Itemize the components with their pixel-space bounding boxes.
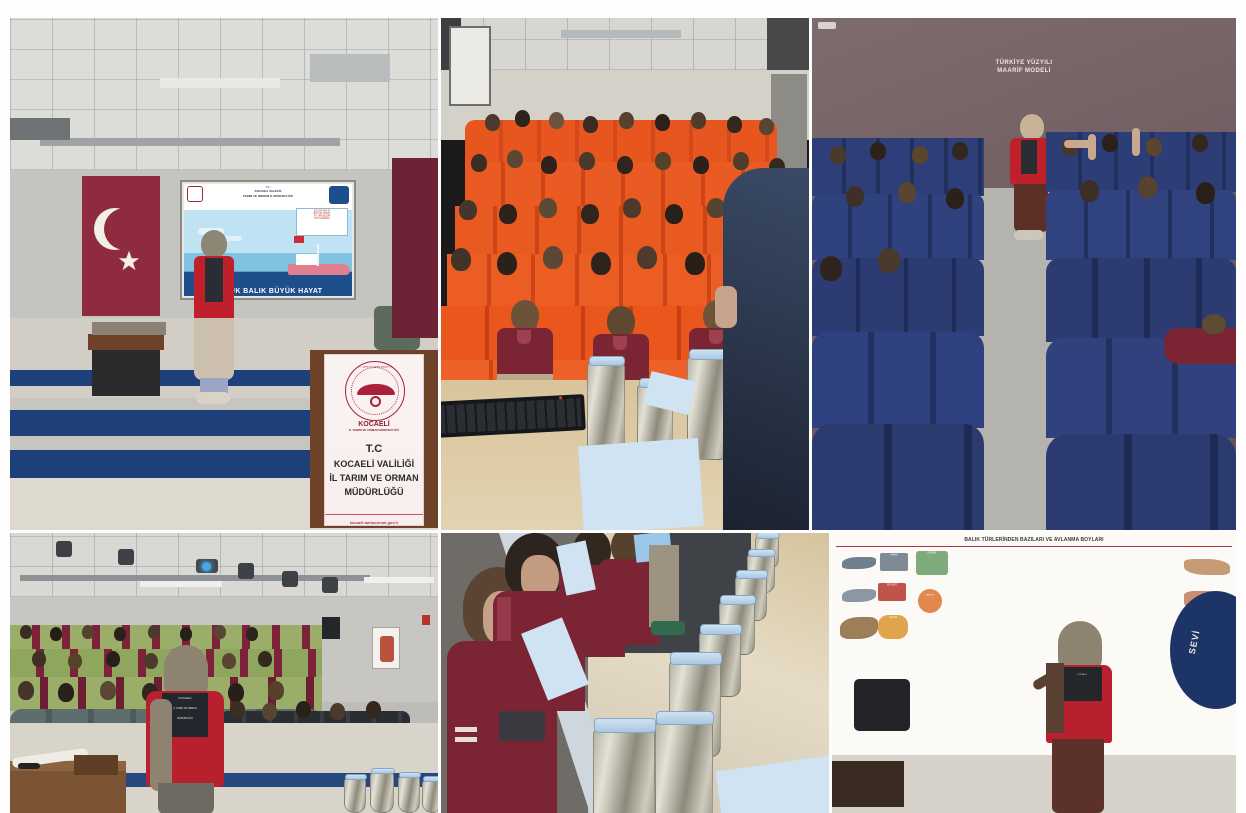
whiteboard	[449, 26, 491, 106]
podium-org-line: KOCAELİ	[325, 421, 423, 428]
framed-poster	[372, 627, 400, 669]
slide-callout: SAZAN	[878, 615, 908, 639]
seat-block-left	[812, 138, 984, 530]
student-maroon-sleeve	[1164, 328, 1236, 364]
fish-illustration-carp	[840, 617, 878, 639]
podium-banner: T.C. TARIM VE ORMAN BAKANLIĞI KOCAELİ İL…	[324, 354, 424, 526]
photo-audience-green-seats: KOCAELİ İL TARIM VE ORMAN MÜDÜRLÜĞÜ	[10, 533, 438, 813]
video-projector	[196, 559, 218, 573]
photo-stage-presentation: T.C. KOCAELİ VALİLİĞİ TARIM VE ORMAN İL …	[10, 18, 438, 530]
stage-spotlight	[238, 563, 254, 579]
background-person-legs	[649, 545, 679, 627]
black-chairs	[854, 679, 910, 731]
stage-spotlight	[282, 571, 298, 587]
podium-org-sub: İL TARIM VE ORMAN MÜDÜRLÜĞÜ	[325, 429, 423, 432]
ceiling	[441, 18, 809, 70]
side-flag-drape	[392, 158, 438, 338]
photo-collage: T.C. KOCAELİ VALİLİĞİ TARIM VE ORMAN İL …	[0, 0, 1246, 813]
stage-spotlight	[56, 541, 72, 557]
equipment-case	[74, 755, 118, 775]
fish-illustration-seabass	[1184, 559, 1230, 575]
background-person-shoes	[651, 621, 685, 635]
slide-line1: TÜRKİYE YÜZYILI	[812, 60, 1236, 66]
vest-text-line3: MÜDÜRLÜĞÜ	[167, 717, 204, 719]
podium-line1: T.C	[325, 443, 423, 455]
paper-handout	[578, 438, 704, 530]
raised-hand	[1064, 140, 1094, 148]
specimen-jar	[587, 362, 625, 456]
podium-line4: MÜDÜRLÜĞÜ	[325, 487, 423, 497]
podium: T.C. TARIM VE ORMAN BAKANLIĞI KOCAELİ İL…	[310, 350, 438, 530]
vest-text: KOCAELİ	[1068, 673, 1097, 675]
foreground-person-silhouette	[723, 168, 809, 530]
emblem-text: SEVİ	[1187, 629, 1202, 655]
presenter-figure: KOCAELİ İL TARIM VE ORMAN MÜDÜRLÜĞÜ	[140, 645, 228, 813]
slide-line2: MAARİF MODELİ	[812, 68, 1236, 74]
scarf-drape	[150, 699, 172, 791]
turkish-flag-banner	[82, 176, 160, 316]
emblem-ring-text: T.C. TARIM VE ORMAN BAKANLIĞI	[355, 366, 396, 368]
vest-text-line2: İL TARIM VE ORMAN	[167, 707, 204, 709]
podium-url: kocaeli.tarimorman.gov.tr	[325, 521, 423, 525]
projector-lens-glow	[202, 562, 211, 571]
slide-header-line2: KOCAELİ VALİLİĞİ	[184, 190, 352, 193]
stage-spotlight	[322, 577, 338, 593]
slide-header-line3: TARIM VE ORMAN İL MÜDÜRLÜĞÜ	[184, 195, 352, 198]
raised-hand	[1132, 128, 1140, 156]
wooden-bench	[832, 761, 904, 807]
fishing-boat-illustration	[288, 244, 350, 276]
foreground-desk	[10, 761, 126, 813]
ceiling	[10, 533, 438, 597]
fish-illustration-mackerel	[842, 589, 876, 602]
photo-fish-slide: BALIK TÜRLERİNDEN BAZILARI VE AVLANMA BO…	[832, 533, 1236, 813]
projection-screen: BALIK TÜRLERİNDEN BAZILARI VE AVLANMA BO…	[832, 533, 997, 653]
specimen-jars-group	[344, 769, 438, 813]
slide-title: BALIK TÜRLERİNDEN BAZILARI VE AVLANMA BO…	[836, 537, 1232, 543]
presenter-figure: KOCAELİ	[1040, 621, 1114, 813]
presenter-figure	[188, 230, 240, 410]
ceiling	[10, 18, 438, 170]
slide-callout: LEVREK	[916, 551, 948, 575]
podium-line2: KOCAELİ VALİLİĞİ	[325, 459, 423, 469]
slide-note-box: KÜÇÜK BALIK BÜYÜK HAYAT SU ÜRÜNLERİ AVCI…	[296, 208, 348, 236]
wall-speaker	[322, 617, 340, 639]
fish-illustration-anchovy	[842, 557, 876, 569]
seat-block-right	[1046, 132, 1236, 530]
ministry-emblem: T.C. TARIM VE ORMAN BAKANLIĞI	[345, 361, 405, 421]
podium-line3: İL TARIM VE ORMAN	[325, 473, 423, 483]
students-group	[441, 533, 671, 813]
slide-callout: İSTAVRİT	[878, 583, 906, 601]
photo-orange-seats-audience	[441, 18, 809, 530]
computer-keyboard[interactable]	[441, 394, 586, 438]
fire-alarm	[422, 615, 430, 625]
photo-students-jars	[441, 533, 829, 813]
projection-screen: TÜRKİYE YÜZYILI MAARİF MODELİ	[812, 18, 922, 102]
pointing-hand	[715, 286, 737, 328]
slide-callout: MEZGİT	[918, 589, 942, 613]
photo-blue-seats-hall: TÜRKİYE YÜZYILI MAARİF MODELİ	[812, 18, 1236, 530]
vest-back-panel: KOCAELİ	[1062, 667, 1102, 701]
vest-text-line1: KOCAELİ	[162, 697, 208, 700]
stage-spotlight	[118, 549, 134, 565]
microphone	[18, 763, 40, 769]
display-table	[92, 348, 160, 396]
slide-callout: HAMSİ	[880, 553, 908, 571]
